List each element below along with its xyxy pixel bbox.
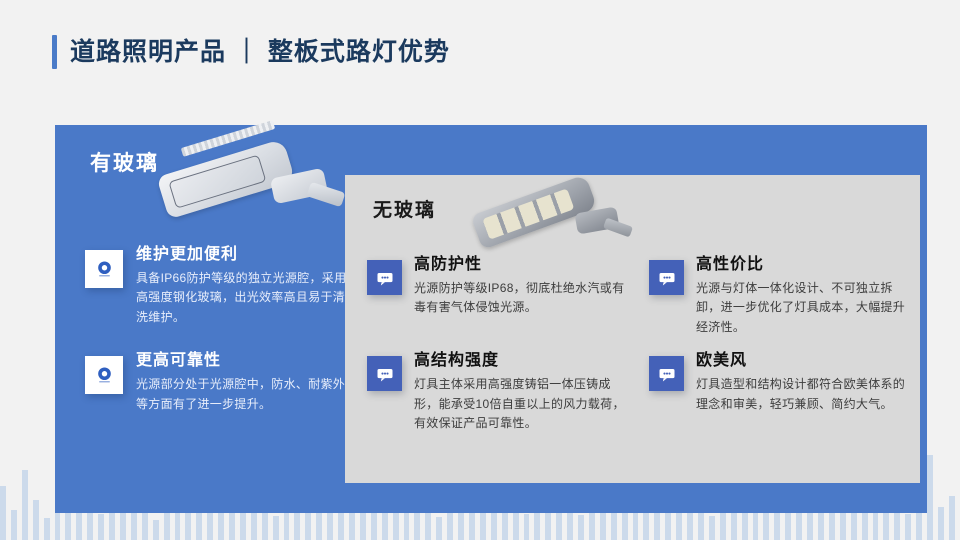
list-item[interactable]: 高结构强度 灯具主体采用高强度铸铝一体压铸成形，能承受10倍自重以上的风力载荷，… [367, 353, 625, 433]
left-feature-list: 维护更加便利 具备IP66防护等级的独立光源腔，采用高强度钢化玻璃，出光效率高且… [85, 247, 357, 440]
location-pin-icon [85, 356, 123, 394]
decorative-bar [436, 517, 442, 540]
decorative-bar [709, 516, 715, 540]
main-blue-card: 有玻璃 维护更加便利 具备 [55, 125, 927, 513]
feature-body: 光源防护等级IP68，彻底杜绝水汽或有毒有害气体侵蚀光源。 [414, 279, 625, 318]
location-pin-icon [85, 250, 123, 288]
list-item-text: 高防护性 光源防护等级IP68，彻底杜绝水汽或有毒有害气体侵蚀光源。 [414, 257, 625, 337]
decorative-bar [643, 512, 649, 540]
decorative-bar [153, 520, 159, 540]
gray-panel: 无玻璃 [345, 175, 920, 483]
title-accent-bar [52, 35, 57, 69]
gray-panel-heading: 无玻璃 [373, 195, 436, 222]
chat-bubble-icon [367, 356, 402, 391]
list-item[interactable]: 更高可靠性 光源部分处于光源腔中，防水、耐紫外等方面有了进一步提升。 [85, 353, 357, 414]
feature-body: 光源部分处于光源腔中，防水、耐紫外等方面有了进一步提升。 [136, 375, 357, 414]
feature-title: 更高可靠性 [136, 353, 357, 369]
feature-title: 高结构强度 [414, 353, 625, 369]
list-item[interactable]: 高性价比 光源与灯体一体化设计、不可独立拆卸，进一步优化了灯具成本，大幅提升经济… [649, 257, 907, 337]
decorative-bar [524, 514, 530, 540]
decorative-bar [404, 511, 410, 540]
lamp-glass-cover [168, 155, 266, 209]
feature-body: 具备IP66防护等级的独立光源腔，采用高强度钢化玻璃，出光效率高且易于清洗维护。 [136, 269, 357, 327]
feature-body: 灯具造型和结构设计都符合欧美体系的理念和审美，轻巧兼顾、简约大气。 [696, 375, 907, 414]
gray-panel-feature-grid: 高防护性 光源防护等级IP68，彻底杜绝水汽或有毒有害气体侵蚀光源。 [367, 257, 907, 434]
slide-root: 道路照明产品 ｜ 整板式路灯优势 有玻璃 [0, 0, 960, 540]
decorative-bar [927, 455, 933, 540]
left-section-heading: 有玻璃 [90, 147, 159, 177]
decorative-bar [218, 512, 224, 540]
lamp-led-array [482, 188, 574, 239]
feature-body: 灯具主体采用高强度铸铝一体压铸成形，能承受10倍自重以上的风力载荷，有效保证产品… [414, 375, 625, 433]
chat-bubble-icon [649, 356, 684, 391]
decorative-bar [578, 515, 584, 540]
decorative-bar [185, 510, 191, 540]
page-title: 道路照明产品 ｜ 整板式路灯优势 [70, 40, 450, 65]
decorative-bar [273, 516, 279, 540]
decorative-bar [491, 509, 497, 540]
feature-title: 维护更加便利 [136, 247, 357, 263]
decorative-bar [33, 500, 39, 540]
feature-title: 高性价比 [696, 257, 907, 273]
page-title-group: 道路照明产品 ｜ 整板式路灯优势 [52, 35, 450, 69]
decorative-bar [873, 511, 879, 540]
street-lamp-no-glass-image [473, 180, 633, 250]
list-item[interactable]: 高防护性 光源防护等级IP68，彻底杜绝水汽或有毒有害气体侵蚀光源。 [367, 257, 625, 337]
decorative-bar [338, 513, 344, 540]
feature-title: 欧美风 [696, 353, 907, 369]
chat-bubble-icon [649, 260, 684, 295]
decorative-bar [44, 518, 50, 540]
list-item-text: 高性价比 光源与灯体一体化设计、不可独立拆卸，进一步优化了灯具成本，大幅提升经济… [696, 257, 907, 337]
chat-bubble-icon [367, 260, 402, 295]
list-item-text: 欧美风 灯具造型和结构设计都符合欧美体系的理念和审美，轻巧兼顾、简约大气。 [696, 353, 907, 433]
decorative-bar [742, 510, 748, 540]
decorative-bar [938, 507, 944, 540]
list-item[interactable]: 欧美风 灯具造型和结构设计都符合欧美体系的理念和审美，轻巧兼顾、简约大气。 [649, 353, 907, 433]
decorative-bar [807, 513, 813, 540]
decorative-bar [11, 510, 17, 540]
decorative-bar [949, 496, 955, 540]
list-item-text: 高结构强度 灯具主体采用高强度铸铝一体压铸成形，能承受10倍自重以上的风力载荷，… [414, 353, 625, 433]
feature-title: 高防护性 [414, 257, 625, 273]
decorative-bar [22, 470, 28, 540]
list-item-text: 更高可靠性 光源部分处于光源腔中，防水、耐紫外等方面有了进一步提升。 [136, 353, 357, 414]
decorative-bar [905, 514, 911, 540]
list-item-text: 维护更加便利 具备IP66防护等级的独立光源腔，采用高强度钢化玻璃，出光效率高且… [136, 247, 357, 327]
street-lamp-with-glass-image [160, 137, 345, 222]
decorative-bar [98, 514, 104, 540]
decorative-bar [0, 486, 6, 540]
feature-body: 光源与灯体一体化设计、不可独立拆卸，进一步优化了灯具成本，大幅提升经济性。 [696, 279, 907, 337]
list-item[interactable]: 维护更加便利 具备IP66防护等级的独立光源腔，采用高强度钢化玻璃，出光效率高且… [85, 247, 357, 327]
